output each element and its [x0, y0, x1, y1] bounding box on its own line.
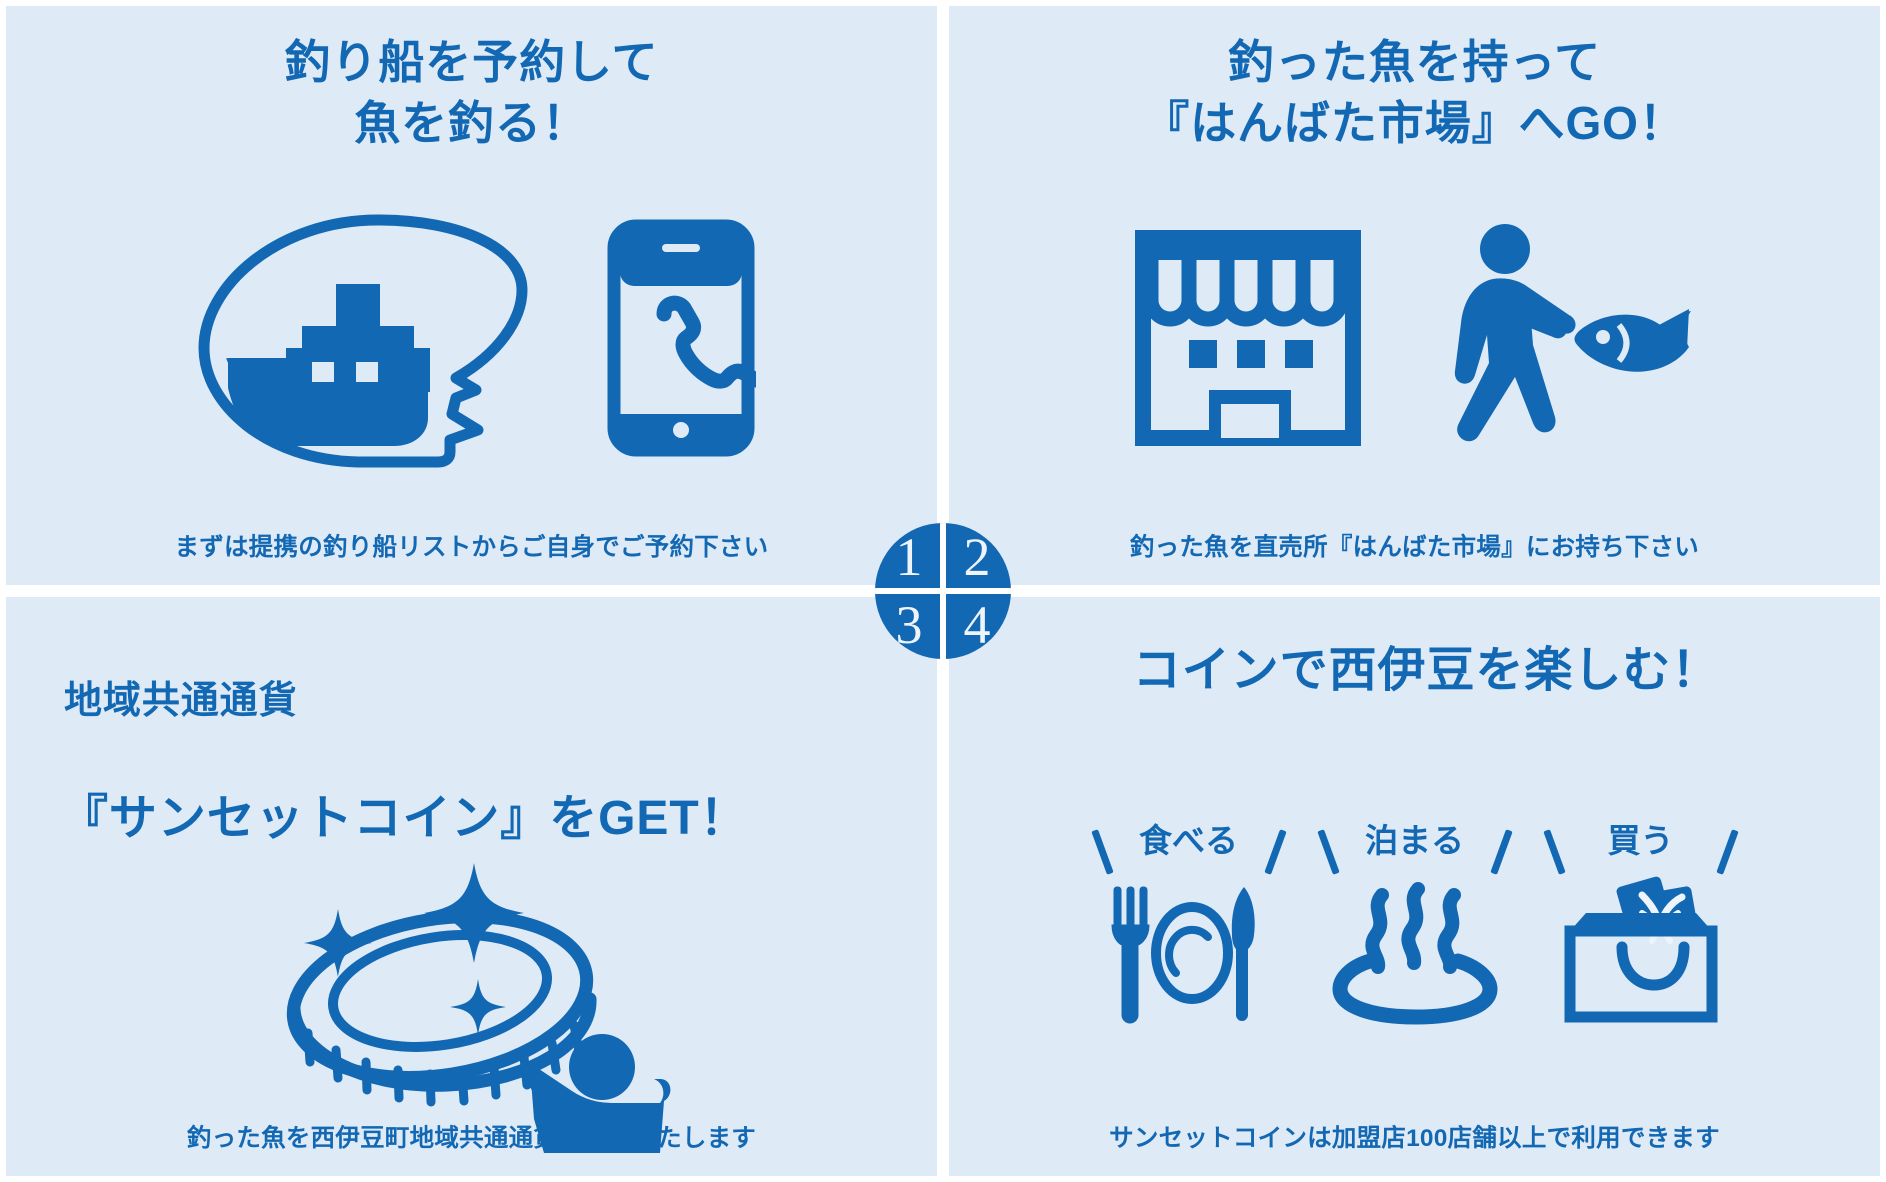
- sublabel-stay-head: 泊まる: [1319, 801, 1511, 875]
- sublabel-eat: 食べる: [1093, 801, 1285, 1025]
- step-number-medallion: 1 2 3 4: [875, 523, 1011, 659]
- panel-1-artwork: [6, 153, 937, 528]
- sublabel-stay: 泊まる: [1319, 801, 1511, 1025]
- sublabel-buy-text: 買う: [1608, 814, 1674, 862]
- panel-4-caption: サンセットコインは加盟店100店舗以上で利用できます: [1109, 1119, 1720, 1176]
- panel-3-artwork: [6, 911, 937, 1119]
- panel-1-title: 釣り船を予約して 魚を釣る！: [285, 32, 659, 153]
- panel-2-title: 釣った魚を持って 『はんばた市場』へGO！: [1143, 32, 1686, 153]
- panel-3-title-main: 『サンセットコイン』をGET！: [60, 787, 937, 850]
- sublabel-stay-text: 泊まる: [1365, 814, 1464, 862]
- sublabel-eat-head: 食べる: [1093, 801, 1285, 875]
- slash-left-icon: [1543, 829, 1565, 875]
- panel-step-1: 釣り船を予約して 魚を釣る！: [6, 6, 937, 585]
- panel-3-title-small: 地域共通通貨: [64, 676, 937, 726]
- market-shop-icon: [1133, 228, 1363, 453]
- panel-3-caption: 釣った魚を西伊豆町地域共通通貨と交換いたします: [187, 1119, 756, 1176]
- slash-right-icon: [1490, 829, 1512, 875]
- slash-right-icon: [1716, 829, 1738, 875]
- panel-2-caption: 釣った魚を直売所『はんばた市場』にお持ち下さい: [1130, 528, 1699, 585]
- sublabel-buy-head: 買う: [1545, 801, 1737, 875]
- sublabel-eat-text: 食べる: [1139, 814, 1238, 862]
- slash-right-icon: [1264, 829, 1286, 875]
- panel-4-artwork: 食べる: [949, 702, 1880, 1119]
- boat-in-speech-bubble-icon: [188, 208, 588, 473]
- fork-plate-knife-icon: [1104, 875, 1274, 1025]
- slash-left-icon: [1091, 829, 1113, 875]
- panel-step-3: 地域共通通貨 『サンセットコイン』をGET！: [6, 597, 937, 1176]
- panel-2-artwork: [949, 153, 1880, 528]
- medallion-divider-vertical: [940, 523, 946, 659]
- slash-left-icon: [1317, 829, 1339, 875]
- infographic-root: 釣り船を予約して 魚を釣る！: [0, 0, 1886, 1182]
- panel-4-sublabels: 食べる: [949, 801, 1880, 1025]
- gift-shopping-bag-icon: [1556, 875, 1726, 1025]
- person-carrying-fish-icon: [1397, 223, 1697, 458]
- onsen-hot-spring-icon: [1330, 875, 1500, 1025]
- panel-1-caption: まずは提携の釣り船リストからご自身でご予約下さい: [175, 528, 769, 585]
- sublabel-buy: 買う: [1545, 801, 1737, 1025]
- panel-4-title: コインで西伊豆を楽しむ！: [949, 639, 1880, 702]
- smartphone-call-icon: [606, 218, 756, 463]
- panel-step-2: 釣った魚を持って 『はんばた市場』へGO！: [949, 6, 1880, 585]
- panel-step-4: コインで西伊豆を楽しむ！ 食べる: [949, 597, 1880, 1176]
